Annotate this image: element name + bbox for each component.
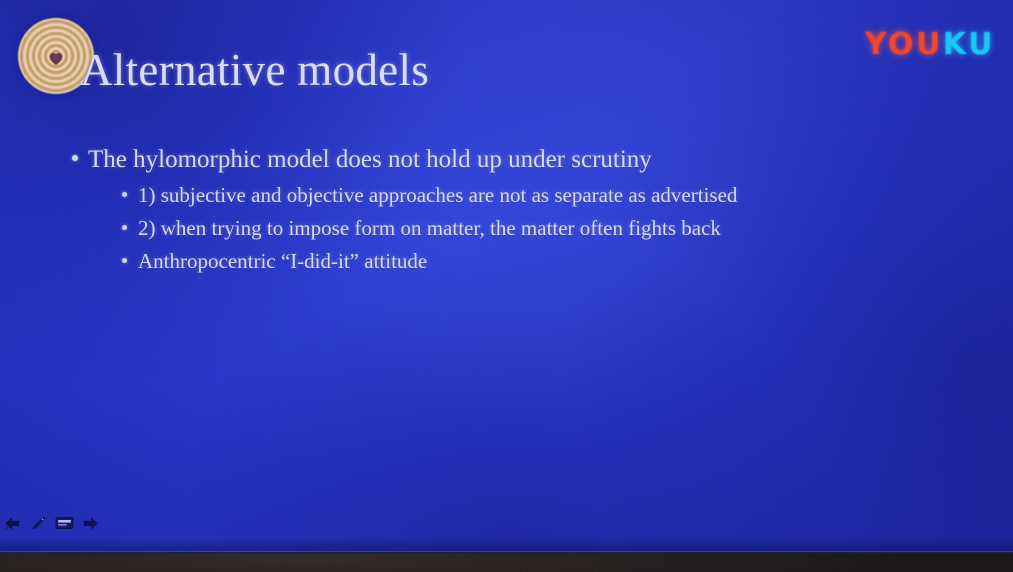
bullet-dot-icon [72,155,78,161]
slide-body: The hylomorphic model does not hold up u… [72,143,973,278]
room-strip-texture [0,553,1013,572]
youku-watermark: YOUKU [865,30,995,60]
presenter-nav-controls [3,515,100,531]
bullet-level1-text: The hylomorphic model does not hold up u… [88,143,652,177]
previous-slide-arrow-icon[interactable] [3,515,22,531]
screenshot-stage: YOUKU Alternative models The hylomorphic… [0,0,1013,572]
bullet-level2: 1) subjective and objective approaches a… [122,179,973,212]
bullet-level1: The hylomorphic model does not hold up u… [72,143,973,177]
dark-room-strip [0,553,1013,572]
youku-watermark-part2: KU [943,27,995,62]
slide-title: Alternative models [80,48,429,93]
bullet-dot-icon [122,225,127,230]
bullet-level2-text: 1) subjective and objective approaches a… [138,179,737,212]
bullet-dot-icon [122,192,127,197]
bullet-level2: Anthropocentric “I-did-it” attitude [122,245,973,278]
bullet-dot-icon [122,258,127,263]
heart-icon [47,48,66,67]
presentation-slide[interactable]: YOUKU Alternative models The hylomorphic… [0,0,1013,553]
slide-menu-icon[interactable] [55,515,74,531]
bullet-level2-text: Anthropocentric “I-did-it” attitude [138,245,427,278]
youku-watermark-part1: YOU [865,27,943,62]
bullet-level2: 2) when trying to impose form on matter,… [122,212,973,245]
pen-annotation-icon[interactable] [29,515,48,531]
next-slide-arrow-icon[interactable] [81,515,100,531]
bullet-level2-text: 2) when trying to impose form on matter,… [138,212,721,245]
